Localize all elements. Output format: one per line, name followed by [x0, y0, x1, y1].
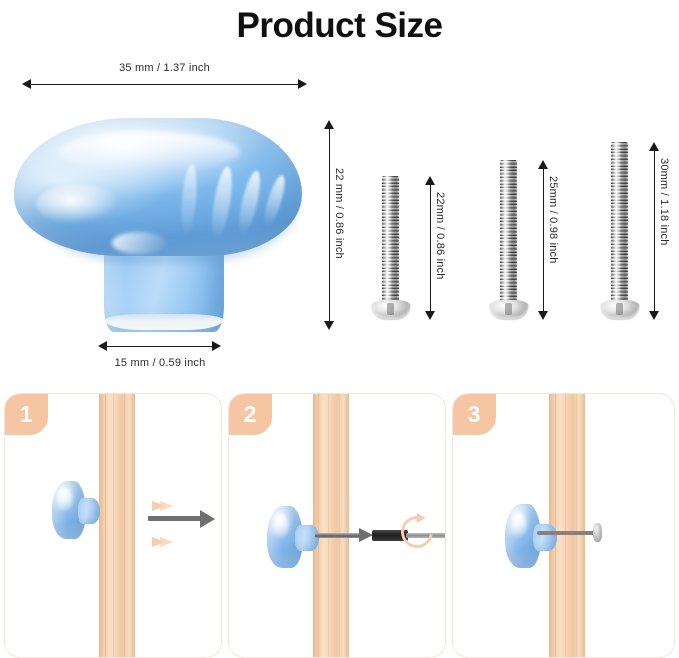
- installed-screw-3: [537, 531, 599, 535]
- push-direction-arrow-1: [148, 516, 202, 521]
- screw-22mm-label: 22mm / 0.86 inch: [434, 192, 446, 280]
- knob-width-label: 35 mm / 1.37 inch: [22, 62, 307, 74]
- step-panel-3: 3: [452, 393, 675, 658]
- cabinet-door-1: [99, 393, 135, 658]
- screw-30mm-label: 30mm / 1.18 inch: [658, 158, 670, 246]
- knob-base-width-label: 15 mm / 0.59 inch: [86, 357, 234, 369]
- screw-25mm-label: 25mm / 0.98 inch: [547, 176, 559, 264]
- screw-head-3: [593, 523, 602, 542]
- page-title: Product Size: [0, 0, 679, 48]
- step-badge-1: 1: [4, 393, 48, 435]
- step-badge-2: 2: [228, 393, 272, 435]
- product-size-infographic: Product Size 35 mm / 1.37 inch 15 mm / 0…: [0, 0, 679, 658]
- screw-25mm: [500, 160, 517, 320]
- knob-base: [105, 314, 223, 330]
- step-panel-2: 2: [228, 393, 446, 658]
- installation-steps: 1 2: [0, 393, 679, 658]
- screw-in-door-2: [315, 533, 361, 538]
- knob-mini-2: [267, 506, 319, 568]
- screw-30mm: [611, 142, 628, 320]
- knob-base-width-arrow: [98, 340, 221, 352]
- screw-22mm: [382, 176, 399, 320]
- knob-height-label: 22 mm / 0.86 inch: [333, 168, 345, 259]
- knob-mini-1: [52, 481, 98, 539]
- knob-width-arrow: [22, 78, 307, 90]
- step-panel-1: 1: [4, 393, 222, 658]
- knob-illustration: [8, 112, 308, 334]
- knob-mini-3: [505, 504, 557, 568]
- rotate-indicator-2: [395, 510, 440, 555]
- step-badge-3: 3: [452, 393, 496, 435]
